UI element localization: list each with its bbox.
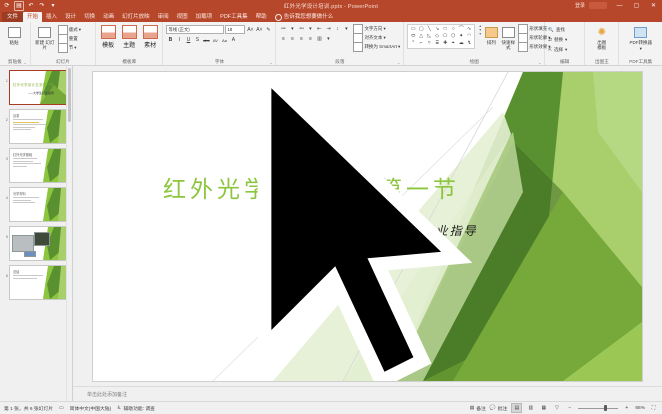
thumbnail-slide-5[interactable] [9,226,69,261]
shape-rect[interactable]: ▭ [409,26,417,33]
shape-circle[interactable]: ○ [449,26,457,33]
redo-icon[interactable]: ↷ [38,2,46,10]
lightbulb-icon [275,14,282,21]
shape-plus[interactable]: ✚ [441,40,449,47]
ribbon-group-template: 模板 主题 素材 模板库 [96,22,163,65]
line-spacing-button[interactable]: ↕ [333,25,341,33]
shape-cloud[interactable]: ☁ [457,40,465,47]
zoom-slider[interactable] [578,408,618,409]
notes-toggle-button[interactable]: ▤ 备注 [470,405,486,412]
paragraph-group-label: 段落 [279,58,400,65]
tab-insert[interactable]: 插入 [42,12,61,22]
shape-banner[interactable]: ⌖ [449,40,457,47]
smartart-icon [353,42,363,52]
pdf-converter-label: PDF转换器 [629,40,652,45]
fit-slide-icon[interactable]: ⛶ [649,404,658,412]
columns-dropdown-icon[interactable]: ▾ [324,35,332,43]
shape-wave[interactable]: ≈ [425,40,433,47]
material-button[interactable]: 素材 [141,25,159,49]
thumbnail-number: 5 [3,226,8,239]
slide-thumbnail-pane[interactable]: 1 红外光学设计交流第一节 -----大学生就业指导 2 [0,66,73,401]
ribbon: 粘贴 剪贴板 ⌄ 新建 幻灯片 版式▾ [0,22,662,66]
thumbnail-scrollbar-thumb[interactable] [68,68,71,122]
ribbon-group-editing: 🔍 查找 ⇄ 替换▾ ⇱ 选择▾ 编辑 [545,22,585,65]
ribbon-group-paragraph: ≔▾ ≕▾ ⇤ ⇥ ↕▾ ≡ ≡ ≡ ≡ ▥▾ [276,22,404,65]
list-row: ≔▾ ≕▾ ⇤ ⇥ ↕▾ [279,25,350,33]
autosave-icon[interactable]: ⟳ [3,2,11,10]
thumbnail-body-lines [13,275,43,279]
thumbnail-graphic [10,71,68,104]
quick-styles-button[interactable]: 快速样式 [501,24,515,50]
paste-label: 粘贴 [10,40,19,45]
thumbnail-title: 红外光学设计交流第一节 [13,82,54,87]
numbering-dropdown-icon[interactable]: ▾ [306,25,314,33]
thumbnail-slide-1[interactable]: 红外光学设计交流第一节 -----大学生就业指导 [9,70,69,105]
section-label: 节 [69,45,74,51]
pdf-converter-button[interactable]: PDF转换器 ▾ [626,24,656,51]
decrease-indent-button[interactable]: ⇤ [315,25,323,33]
layout-button[interactable]: 版式▾ [58,26,81,34]
comments-label: 批注 [498,405,508,412]
arrange-button[interactable]: 排列 [484,24,498,45]
thumbnail-slide-2[interactable]: 目录 [9,109,69,144]
thumbnail-number: 4 [3,187,8,200]
thumbnail-heading: 红外光学基础 [13,152,32,157]
convert-to-smartart-button[interactable]: 转换为 SmartArt▾ [353,43,400,51]
slide-editor-pane: 红外光学设计交流第一节 -----大学生就业指导 单击此处添加备注 [73,66,662,401]
increase-font-size-button[interactable]: A˄ [246,26,254,34]
align-row: ≡ ≡ ≡ ≡ ▥▾ [279,35,350,43]
accessibility-status[interactable]: ♿ 辅助功能: 调查 [117,405,155,412]
align-center-button[interactable]: ≡ [288,35,296,43]
clear-formatting-icon[interactable]: ✎ [264,26,272,34]
slide-subtitle-text[interactable]: -----大学生就业指导 [348,222,478,239]
columns-button[interactable]: ▥ [315,35,323,43]
find-button[interactable]: 🔍 查找 [548,25,565,34]
shape-effects-icon [518,42,528,52]
tab-file[interactable]: 文件 [2,12,23,22]
notes-pane[interactable]: 单击此处添加备注 [73,386,662,401]
shape-callout[interactable]: ⌸ [433,40,441,47]
comments-toggle-button[interactable]: 💬 批注 [490,405,508,412]
list-item[interactable]: 3 红外光学基础 [0,146,72,185]
reading-view-button[interactable]: ▦ [539,404,548,412]
select-icon: ⇱ [548,47,552,53]
zoom-in-button[interactable]: + [622,404,631,412]
undo-icon[interactable]: ↶ [27,2,35,10]
spellcheck-icon[interactable]: ▭ [59,406,64,411]
tab-view[interactable]: 视图 [173,12,192,22]
material-label: 素材 [144,40,156,49]
shape-hex[interactable]: ⬡ [449,33,457,40]
slide-sorter-view-button[interactable]: ▥ [526,404,535,412]
zoom-slider-handle[interactable] [604,405,607,411]
window-controls: 登录 — ▢ ✕ [571,0,662,11]
quick-styles-label: 快速样式 [501,40,515,50]
comment-icon: 💬 [490,406,496,411]
language-status[interactable]: 简体中文(中国大陆) [70,405,112,412]
shape-star[interactable]: ✦ [457,33,465,40]
ribbon-group-font: 等线 (正文) 18 A˄ A˅ ✎ B I U S abc AV Aa A 字 [163,22,276,65]
ribbon-group-drawing: ▭ ▢ ╲ ↘ □ ○ ⌒ ∿ ⬭ △ ◺ ◇ ⬠ ⬡ ✦ ◠ ⌃ [404,22,545,65]
close-button[interactable]: ✕ [645,0,662,11]
shape-pent[interactable]: ⬠ [441,33,449,40]
select-label: 选择 [554,47,563,53]
chart-king-group-label: 出图王 [588,58,615,65]
pdf-converter-icon [634,25,648,39]
new-slide-label: 新建 幻灯片 [34,40,56,50]
shapes-gallery-scroll[interactable]: ▴ ▾ ▾ [479,24,481,36]
underline-button[interactable]: U [184,36,192,44]
thumbnail-heading: 总结 [13,269,19,274]
text-shadow-button[interactable]: S [193,36,201,44]
font-style-row: B I U S abc AV Aa A [166,36,237,44]
current-slide[interactable]: 红外光学设计交流第一节 -----大学生就业指导 [93,72,642,381]
change-case-button[interactable]: Aa [220,36,228,44]
drawing-group-label: 绘图 [407,58,541,65]
align-text-button[interactable]: 对齐文本▾ [353,34,400,42]
notes-icon: ▤ [470,406,475,411]
decrease-font-size-button[interactable]: A˅ [255,26,263,34]
font-name-input[interactable]: 等线 (正文) [166,25,224,34]
thumbnail-heading: 光学材料 [13,191,26,196]
thumbnail-image-2 [34,232,50,246]
tab-pdf-tools[interactable]: PDF工具集 [216,12,252,22]
thumbnail-heading: 目录 [13,113,19,118]
replace-icon: ⇄ [548,37,552,43]
shape-triangle[interactable]: △ [417,33,425,40]
character-spacing-button[interactable]: AV [211,36,219,44]
thumbnail-subtitle: -----大学生就业指导 [28,91,54,95]
shape-curve[interactable]: ⌒ [457,26,465,33]
list-item[interactable]: 4 光学材料 [0,185,72,224]
section-icon [58,43,68,53]
italic-button[interactable]: I [175,36,183,44]
normal-view-button[interactable]: ▤ [511,403,522,413]
search-icon: 🔍 [548,27,554,33]
replace-button[interactable]: ⇄ 替换▾ [548,35,567,44]
ribbon-group-pdf-tools: PDF转换器 ▾ PDF工具集 [619,22,662,65]
paragraph-dialog-launcher-icon[interactable]: ⌄ [396,60,401,65]
thumbnail-body-lines [13,197,39,203]
bullets-button[interactable]: ≔ [279,25,287,33]
strikethrough-button[interactable]: abc [202,36,210,44]
thumbnail-slide-3[interactable]: 红外光学基础 [9,148,69,183]
shape-right-tri[interactable]: ◺ [425,33,433,40]
select-button[interactable]: ⇱ 选择▾ [548,45,567,54]
list-item[interactable]: 1 红外光学设计交流第一节 -----大学生就业指导 [0,68,72,107]
increase-indent-button[interactable]: ⇥ [324,25,332,33]
reset-label: 重置 [69,36,78,42]
status-bar-right: ▤ 备注 💬 批注 ▤ ▥ ▦ ▽ − + 66% ⛶ [470,403,658,413]
shape-diamond[interactable]: ◇ [433,33,441,40]
tab-transitions[interactable]: 切换 [80,12,99,22]
accessibility-label: 辅助功能: 调查 [123,405,154,412]
slide-title-text[interactable]: 红外光学设计交流第一节 [163,170,493,204]
shape-arc[interactable]: ◠ [465,33,473,40]
list-item[interactable]: 5 [0,224,72,263]
tab-home[interactable]: 开始 [23,12,42,22]
quick-access-toolbar: ⟳ ▤ ↶ ↷ ▾ [0,1,57,11]
editing-group-label: 编辑 [548,58,581,65]
minimize-button[interactable]: — [611,0,628,11]
shape-bolt[interactable]: ↯ [465,40,473,47]
ribbon-group-clipboard: 粘贴 剪贴板 ⌄ [0,22,31,65]
thumbnail-scrollbar[interactable] [66,66,72,401]
pdf-tools-group-label: PDF工具集 [622,58,659,65]
notes-label: 备注 [476,405,486,412]
material-icon [143,25,158,39]
section-button[interactable]: 节▾ [58,44,81,52]
slideshow-button[interactable]: ▽ [552,404,561,412]
shape-bracket[interactable]: ⌐ [417,40,425,47]
slide-count-status[interactable]: 第 1 张，共 6 张幻灯片 [4,405,53,412]
slides-group-label: 幻灯片 [34,58,92,65]
shape-line[interactable]: ╲ [425,26,433,33]
font-size-input[interactable]: 18 [225,25,245,34]
chevron-down-icon[interactable]: ▾ [49,2,57,10]
template-button[interactable]: 模板 [99,25,117,49]
shape-free[interactable]: ∿ [465,26,473,33]
maximize-button[interactable]: ▢ [628,0,645,11]
tell-me-label: 告诉我您想要做什么 [284,12,334,22]
bullets-dropdown-icon[interactable]: ▾ [288,25,296,33]
thumbnail-image-3 [24,251,36,257]
tab-addins[interactable]: 加载项 [192,12,217,22]
shape-chevron[interactable]: ⌃ [409,40,417,47]
template-label: 模板 [102,40,114,49]
text-direction-button[interactable]: 文字方向▾ [353,25,400,33]
shapes-gallery[interactable]: ▭ ▢ ╲ ↘ □ ○ ⌒ ∿ ⬭ △ ◺ ◇ ⬠ ⬡ ✦ ◠ ⌃ [407,24,475,49]
zoom-out-button[interactable]: − [565,404,574,412]
tab-help[interactable]: 帮助 [252,12,271,22]
paste-button[interactable]: 粘贴 [3,24,25,45]
thumbnail-number: 3 [3,148,8,161]
slide-canvas[interactable]: 红外光学设计交流第一节 -----大学生就业指导 [73,66,662,386]
reset-button[interactable]: 重置 [58,35,81,43]
powerpoint-window: ⟳ ▤ ↶ ↷ ▾ 红外光学设计培训.pptx - PowerPoint 登录 … [0,0,662,414]
shape-rounded[interactable]: ▢ [417,26,425,33]
shape-arrow[interactable]: ↘ [433,26,441,33]
status-bar: 第 1 张，共 6 张幻灯片 ▭ 简体中文(中国大陆) ♿ 辅助功能: 调查 ▤… [0,401,662,414]
work-area: 1 红外光学设计交流第一节 -----大学生就业指导 2 [0,66,662,401]
title-bar: ⟳ ▤ ↶ ↷ ▾ 红外光学设计培训.pptx - PowerPoint 登录 … [0,0,662,11]
zoom-level-label[interactable]: 66% [635,406,645,411]
tab-slideshow[interactable]: 幻灯片放映 [118,12,154,22]
font-color-button[interactable]: A [229,36,237,44]
thumbnail-number: 6 [3,265,8,278]
smartart-label: 转换为 SmartArt [364,44,397,50]
arrange-icon [484,25,498,39]
chart-template-label: 出图 模板 [597,40,606,50]
thumbnail-slide-4[interactable]: 光学材料 [9,187,69,222]
replace-label: 替换 [554,37,563,43]
notes-placeholder: 单击此处添加备注 [87,391,127,398]
chart-template-button[interactable]: ✺ 出图 模板 [591,24,613,50]
find-label: 查找 [556,27,565,33]
arrange-label: 排列 [487,40,496,45]
thumbnail-body-lines [13,158,41,167]
ribbon-group-slides: 新建 幻灯片 版式▾ 重置 节▾ 幻灯 [31,22,96,65]
paste-icon [7,25,21,39]
clipboard-dialog-launcher-icon[interactable]: ⌄ [23,60,28,65]
account-label[interactable]: 登录 [571,2,589,9]
tab-animations[interactable]: 动画 [99,12,118,22]
thumbnail-number: 2 [3,109,8,122]
thumbnail-body-lines [13,119,46,130]
tell-me-search[interactable]: 告诉我您想要做什么 [271,12,338,22]
justify-button[interactable]: ≡ [306,35,314,43]
template-group-label: 模板库 [99,58,159,65]
layout-label: 版式 [69,27,78,33]
font-name-row: 等线 (正文) 18 A˄ A˅ ✎ [166,25,272,34]
template-icon [101,25,116,39]
tab-design[interactable]: 设计 [61,12,80,22]
new-slide-icon [38,25,52,39]
theme-label: 主题 [123,40,135,49]
font-group-label: 字体 [166,58,272,65]
numbering-button[interactable]: ≕ [297,25,305,33]
thumbnail-image-1 [12,235,34,252]
pdf-converter-dropdown-icon[interactable]: ▾ [640,46,642,51]
theme-icon [122,25,137,39]
theme-button[interactable]: 主题 [120,25,138,49]
font-dialog-launcher-icon[interactable]: ⌄ [268,60,273,65]
align-text-label: 对齐文本 [364,35,382,41]
list-item[interactable]: 6 总结 [0,263,72,302]
thumbnail-number: 1 [3,70,8,83]
window-title: 红外光学设计培训.pptx - PowerPoint [0,2,662,10]
chart-king-icon: ✺ [595,25,609,39]
line-spacing-dropdown-icon[interactable]: ▾ [342,25,350,33]
drawing-dialog-launcher-icon[interactable]: ⌄ [537,60,542,65]
align-left-button[interactable]: ≡ [279,35,287,43]
ribbon-group-chart-king: ✺ 出图 模板 出图王 [585,22,619,65]
shape-oval[interactable]: ⬭ [409,33,417,40]
shape-square[interactable]: □ [441,26,449,33]
save-icon[interactable]: ▤ [14,1,24,11]
list-item[interactable]: 2 目录 [0,107,72,146]
align-right-button[interactable]: ≡ [297,35,305,43]
text-direction-label: 文字方向 [364,26,382,32]
thumbnail-slide-6[interactable]: 总结 [9,265,69,300]
bold-button[interactable]: B [166,36,174,44]
tab-review[interactable]: 审阅 [154,12,173,22]
new-slide-button[interactable]: 新建 幻灯片 [34,24,56,50]
ribbon-display-options-icon[interactable] [589,2,607,9]
quick-styles-icon [501,25,515,39]
shapes-more-icon[interactable]: ▾ [479,32,481,36]
ribbon-tabs: 文件 开始 插入 设计 切换 动画 幻灯片放映 审阅 视图 加载项 PDF工具集… [0,11,662,22]
accessibility-icon: ♿ [117,406,121,411]
